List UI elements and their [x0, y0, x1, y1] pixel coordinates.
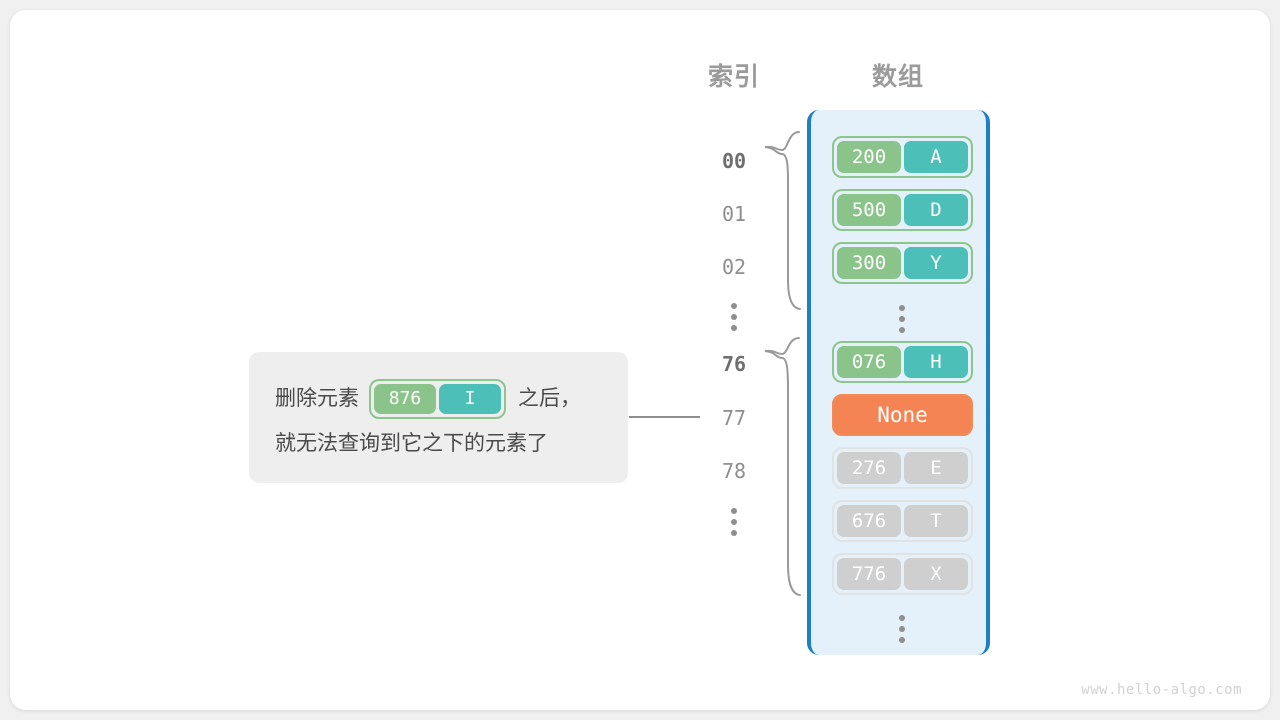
array-bucket-02[interactable]: 300 Y	[811, 240, 994, 286]
bucket-key: 276	[837, 452, 901, 484]
removed-value: I	[439, 384, 501, 414]
bucket-key: 200	[837, 141, 901, 173]
array-bucket-00[interactable]: 200 A	[811, 134, 994, 180]
array-column-header: 数组	[840, 57, 956, 93]
bucket-key: 776	[837, 558, 901, 590]
annotation-bubble: 删除元素 876 I 之后， 就无法查询到它之下的元素了	[249, 352, 628, 483]
brace-upper	[755, 130, 801, 312]
key-value-pair: 200 A	[832, 136, 973, 178]
index-ellipsis-upper	[724, 303, 744, 331]
watermark: www.hello-algo.com	[1081, 682, 1242, 698]
annotation-line-2: 就无法查询到它之下的元素了	[275, 431, 602, 456]
bucket-key: 076	[837, 346, 901, 378]
array-ellipsis-upper	[892, 305, 912, 333]
bucket-value: T	[904, 505, 968, 537]
annotation-line-1: 删除元素 876 I 之后，	[275, 379, 602, 419]
page-card	[10, 10, 1270, 710]
bucket-key: 500	[837, 194, 901, 226]
diagram-canvas: 索引 数组 00 01 02 76 77 78 200 A 500 D	[0, 0, 1280, 720]
array-bucket-80[interactable]: 776 X	[811, 551, 994, 597]
index-ellipsis-lower	[724, 508, 744, 536]
bucket-value: X	[904, 558, 968, 590]
array-ellipsis-lower	[892, 615, 912, 643]
key-value-pair: 300 Y	[832, 242, 973, 284]
key-value-pair: 076 H	[832, 341, 973, 383]
array-bucket-01[interactable]: 500 D	[811, 187, 994, 233]
index-column-header: 索引	[676, 57, 792, 93]
key-value-pair: 500 D	[832, 189, 973, 231]
bucket-key: 676	[837, 505, 901, 537]
array-bucket-77[interactable]: None	[811, 392, 994, 438]
bucket-value: Y	[904, 247, 968, 279]
removed-key: 876	[374, 384, 436, 414]
bucket-value: A	[904, 141, 968, 173]
array-bucket-76[interactable]: 076 H	[811, 339, 994, 385]
bucket-value: H	[904, 346, 968, 378]
array-container: 200 A 500 D 300 Y 076 H Non	[807, 110, 990, 655]
none-marker: None	[832, 394, 973, 436]
array-bucket-79[interactable]: 676 T	[811, 498, 994, 544]
key-value-pair: 776 X	[832, 553, 973, 595]
bucket-value: E	[904, 452, 968, 484]
annotation-connector-line	[629, 416, 700, 418]
removed-key-value-pair: 876 I	[369, 379, 506, 419]
bucket-value: D	[904, 194, 968, 226]
bucket-key: 300	[837, 247, 901, 279]
key-value-pair: 676 T	[832, 500, 973, 542]
annotation-text-prefix: 删除元素	[275, 386, 359, 411]
annotation-text-suffix: 之后，	[518, 386, 581, 411]
array-bucket-78[interactable]: 276 E	[811, 445, 994, 491]
key-value-pair: 276 E	[832, 447, 973, 489]
brace-lower	[755, 336, 801, 598]
